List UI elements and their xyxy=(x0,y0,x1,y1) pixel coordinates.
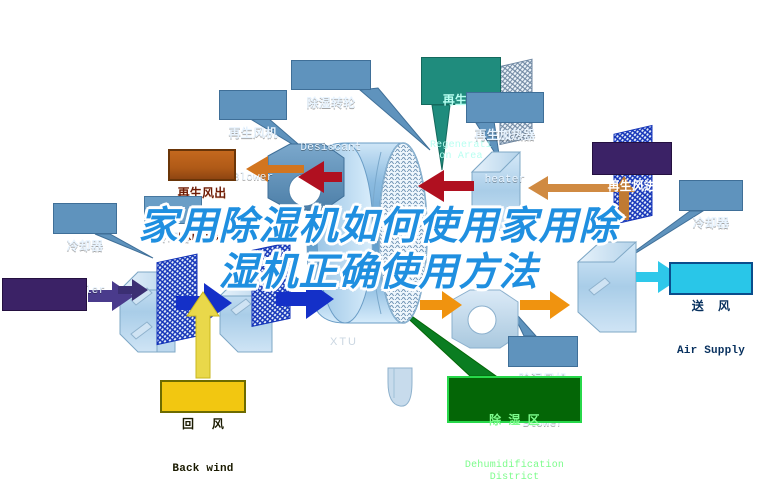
label-desiccant-wheel: 除湿转轮 Desiccant xyxy=(291,60,371,90)
page-title-line-1: 家用除湿机如何使用家用除 xyxy=(0,204,757,250)
label-fresh-air-inlet-en: Fresh Air xyxy=(3,362,86,374)
label-dehumidification-area-cn: 除 湿 区 xyxy=(449,414,580,427)
label-back-wind-cn: 回 风 xyxy=(162,418,244,431)
label-dehumidification-area-en: Dehumidification District xyxy=(449,460,580,484)
page-title-line-2: 湿机正确使用方法 xyxy=(0,250,757,296)
page-title: 家用除湿机如何使用家用除 湿机正确使用方法 xyxy=(0,204,757,296)
label-air-supply-cn: 送 风 xyxy=(671,300,751,313)
back-wind-arrow xyxy=(187,292,219,378)
label-dehumidification-area: 除 湿 区 Dehumidification District xyxy=(447,376,582,423)
label-regeneration-heater-cn: 再生加热器 xyxy=(467,129,543,142)
label-fresh-air-inlet-cn: 新 风 xyxy=(3,316,86,329)
callout-tail-green xyxy=(385,297,496,376)
watermark-text: XTU xyxy=(330,336,358,348)
label-back-wind-en: Back wind xyxy=(162,464,244,476)
label-regeneration-inlet: 再生风进 Fresh Air xyxy=(592,142,672,175)
label-regeneration-heater: 再生加热器 heater xyxy=(466,92,544,123)
condensate-tray xyxy=(388,368,412,406)
label-regeneration-blower: 再生风机 Blower xyxy=(219,90,287,120)
label-back-wind: 回 风 Back wind xyxy=(160,380,246,413)
label-regeneration-inlet-cn: 再生风进 xyxy=(593,180,671,193)
label-air-supply-en: Air Supply xyxy=(671,346,751,358)
label-regeneration-blower-cn: 再生风机 xyxy=(220,127,286,140)
label-regeneration-heater-en: heater xyxy=(467,175,543,187)
label-regeneration-exhaust: 再生风出 Exhaust xyxy=(168,149,236,181)
label-dehumidify-blower: 除湿风机 Blower xyxy=(508,336,578,367)
dehumidifier-diagram-image: XTU 除湿转轮 Desiccant 再生风机 Blower 再生区 Regen… xyxy=(0,0,757,488)
label-desiccant-wheel-cn: 除湿转轮 xyxy=(292,97,370,110)
label-desiccant-wheel-en: Desiccant xyxy=(292,143,370,155)
